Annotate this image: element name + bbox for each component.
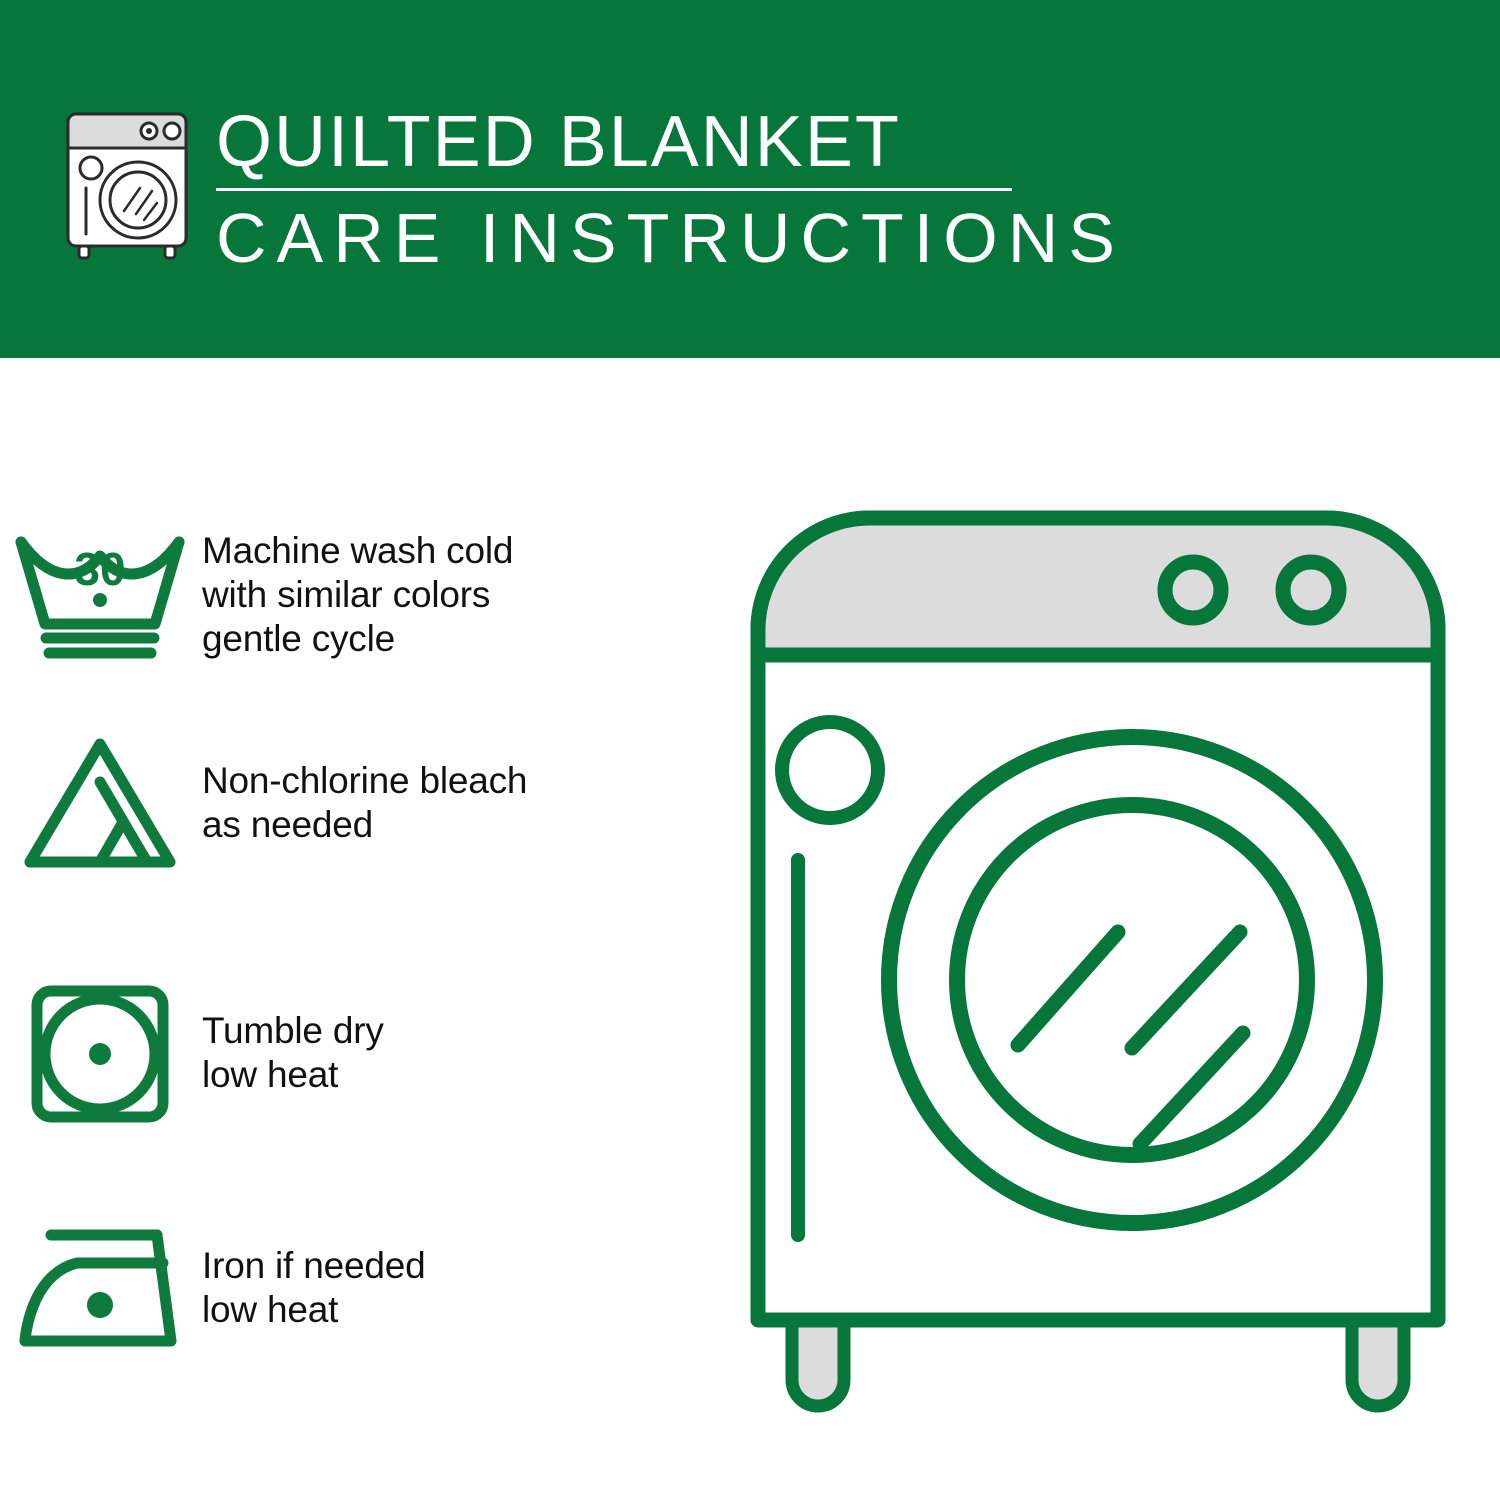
care-label-line: Machine wash cold [202, 529, 513, 573]
machine-leg-left [792, 1320, 844, 1406]
care-label-tumble-dry: Tumble dry low heat [200, 1009, 384, 1097]
care-label-line: low heat [202, 1288, 425, 1332]
page-subtitle: CARE INSTRUCTIONS [216, 197, 1016, 279]
front-load-washing-machine-illustration [740, 500, 1460, 1430]
care-label-line: low heat [202, 1053, 384, 1097]
care-label-iron: Iron if needed low heat [200, 1244, 425, 1332]
machine-knob-left [1165, 562, 1221, 618]
page-title: QUILTED BLANKET [216, 100, 1016, 184]
care-row-iron: Iron if needed low heat [0, 1203, 720, 1373]
machine-knob-right [1283, 562, 1339, 618]
care-label-bleach: Non-chlorine bleach as needed [200, 759, 527, 847]
header-title-block: QUILTED BLANKET CARE INSTRUCTIONS [216, 100, 1016, 279]
machine-power-button [782, 722, 878, 818]
care-row-machine-wash: 30 Machine wash cold with similar colors… [0, 510, 720, 680]
care-label-line: Non-chlorine bleach [202, 759, 527, 803]
header-banner: QUILTED BLANKET CARE INSTRUCTIONS [0, 0, 1500, 358]
care-label-line: with similar colors [202, 573, 513, 617]
care-label-line: gentle cycle [202, 617, 513, 661]
washing-machine-icon [62, 108, 192, 260]
title-divider [216, 188, 1012, 191]
care-label-line: Tumble dry [202, 1009, 384, 1053]
iron-low-heat-icon [0, 1203, 200, 1373]
care-label-line: as needed [202, 803, 527, 847]
non-chlorine-bleach-triangle-icon [0, 718, 200, 888]
tumble-dry-low-icon [0, 968, 200, 1138]
care-instructions-list: 30 Machine wash cold with similar colors… [0, 358, 740, 1500]
care-label-machine-wash: Machine wash cold with similar colors ge… [200, 529, 513, 661]
wash-tub-30-gentle-icon: 30 [0, 510, 200, 680]
machine-leg-right [1352, 1320, 1404, 1406]
care-row-bleach: Non-chlorine bleach as needed [0, 718, 720, 888]
machine-door-inner-ring [957, 805, 1307, 1155]
care-label-line: Iron if needed [202, 1244, 425, 1288]
wash-temperature-label: 30 [74, 543, 125, 595]
care-row-tumble-dry: Tumble dry low heat [0, 968, 720, 1138]
